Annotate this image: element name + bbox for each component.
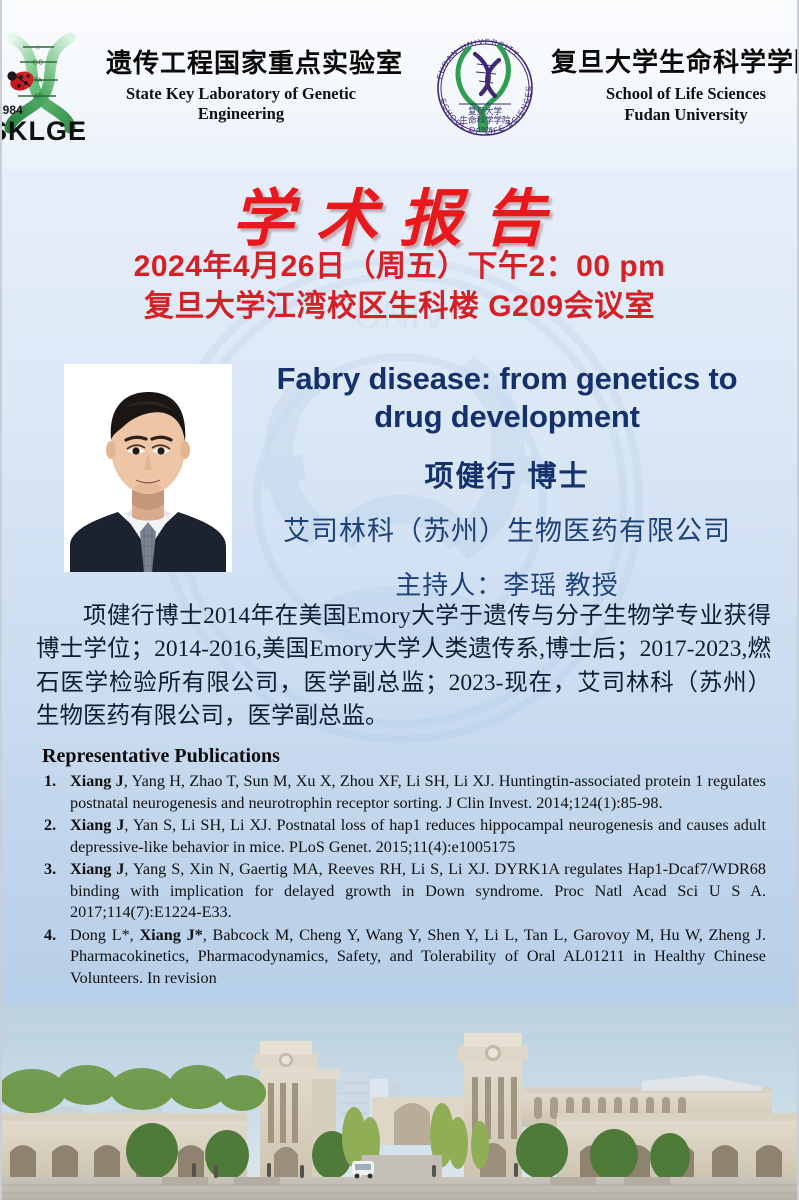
poster-main-title: 学术报告 [2, 168, 797, 258]
fudan-sls-logo: FUDAN UNIVERSITY SCHOOL OF LIFE SCIENCES [429, 26, 541, 148]
publication-item: 4. Dong L*, Xiang J*, Babcock M, Cheng Y… [42, 925, 766, 990]
sklge-year: 1984 [0, 103, 23, 117]
speaker-name: 项健行 博士 [247, 453, 767, 495]
fudan-name-en-line2: Fudan University [551, 104, 799, 125]
event-location: 复旦大学江湾校区生科楼 G209会议室 [2, 287, 797, 327]
speaker-bio: 项健行博士2014年在美国Emory大学于遗传与分子生物学专业获得博士学位；20… [36, 600, 771, 733]
sklge-logo: ☆ GC TA AT [0, 28, 100, 146]
publication-author-bold: Xiang J [70, 860, 124, 878]
publication-number: 3. [42, 859, 70, 924]
fudan-name-en: School of Life Sciences Fudan University [551, 83, 799, 126]
sklge-text-block: 遗传工程国家重点实验室 State Key Laboratory of Gene… [106, 49, 403, 125]
publication-citation: Xiang J, Yang S, Xin N, Gaertig MA, Reev… [70, 859, 766, 924]
publication-rest: , Yang H, Zhao T, Sun M, Xu X, Zhou XF, … [70, 772, 766, 812]
publication-author-bold: Xiang J* [139, 926, 202, 944]
publication-rest: , Yan S, Li SH, Li XJ. Postnatal loss of… [70, 816, 766, 856]
fudan-logo-block: FUDAN UNIVERSITY SCHOOL OF LIFE SCIENCES [411, 26, 799, 148]
publication-citation: Xiang J, Yan S, Li SH, Li XJ. Postnatal … [70, 815, 766, 858]
svg-text:TA: TA [34, 78, 43, 85]
publication-pre: Dong L*, [70, 926, 139, 944]
talk-info: Fabry disease: from genetics to drug dev… [247, 360, 767, 602]
svg-text:GC: GC [33, 60, 44, 67]
publication-number: 4. [42, 925, 70, 990]
talk-title-line2: drug development [247, 398, 767, 436]
publication-citation: Dong L*, Xiang J*, Babcock M, Cheng Y, W… [70, 925, 766, 990]
fudan-name-cn: 复旦大学生命科学学院 [551, 48, 799, 77]
publication-item: 1. Xiang J, Yang H, Zhao T, Sun M, Xu X,… [42, 771, 766, 814]
svg-text:AT: AT [34, 94, 43, 101]
publication-number: 2. [42, 815, 70, 858]
fudan-name-en-line1: School of Life Sciences [551, 83, 799, 104]
svg-text:— 1926 —: — 1926 — [468, 127, 501, 134]
sklge-acronym: SKLGE [0, 116, 87, 146]
event-meta: 2024年4月26日（周五）下午2：00 pm 复旦大学江湾校区生科楼 G209… [2, 247, 797, 327]
publications-heading: Representative Publications [42, 745, 766, 768]
publication-citation: Xiang J, Yang H, Zhao T, Sun M, Xu X, Zh… [70, 771, 766, 814]
event-host: 主持人：李瑶 教授 [247, 565, 767, 602]
event-datetime: 2024年4月26日（周五）下午2：00 pm [2, 247, 797, 287]
sklge-logo-block: ☆ GC TA AT [0, 28, 403, 146]
talk-title-line1: Fabry disease: from genetics to [247, 360, 767, 398]
poster-header: ☆ GC TA AT [2, 22, 797, 152]
speaker-affiliation: 艾司林科（苏州）生物医药有限公司 [247, 509, 767, 548]
fudan-text-block: 复旦大学生命科学学院 School of Life Sciences Fudan… [551, 48, 799, 125]
campus-photo [2, 1005, 799, 1200]
publication-author-bold: Xiang J [70, 816, 124, 834]
svg-text:☆: ☆ [35, 44, 41, 52]
publication-rest: , Yang S, Xin N, Gaertig MA, Reeves RH, … [70, 860, 766, 921]
publication-author-bold: Xiang J [70, 772, 124, 790]
publication-number: 1. [42, 771, 70, 814]
sklge-name-en-line2: Engineering [106, 104, 376, 125]
speaker-photo [64, 364, 232, 572]
seminar-poster: UNIV [0, 0, 799, 1200]
publication-item: 3. Xiang J, Yang S, Xin N, Gaertig MA, R… [42, 859, 766, 924]
publications-section: Representative Publications 1. Xiang J, … [42, 745, 766, 990]
talk-title: Fabry disease: from genetics to drug dev… [247, 360, 767, 436]
svg-text:生命科学学院: 生命科学学院 [459, 115, 511, 125]
sklge-name-en: State Key Laboratory of Genetic Engineer… [106, 84, 376, 125]
sklge-name-cn: 遗传工程国家重点实验室 [106, 49, 403, 78]
sklge-name-en-line1: State Key Laboratory of Genetic [106, 84, 376, 105]
publication-item: 2. Xiang J, Yan S, Li SH, Li XJ. Postnat… [42, 815, 766, 858]
